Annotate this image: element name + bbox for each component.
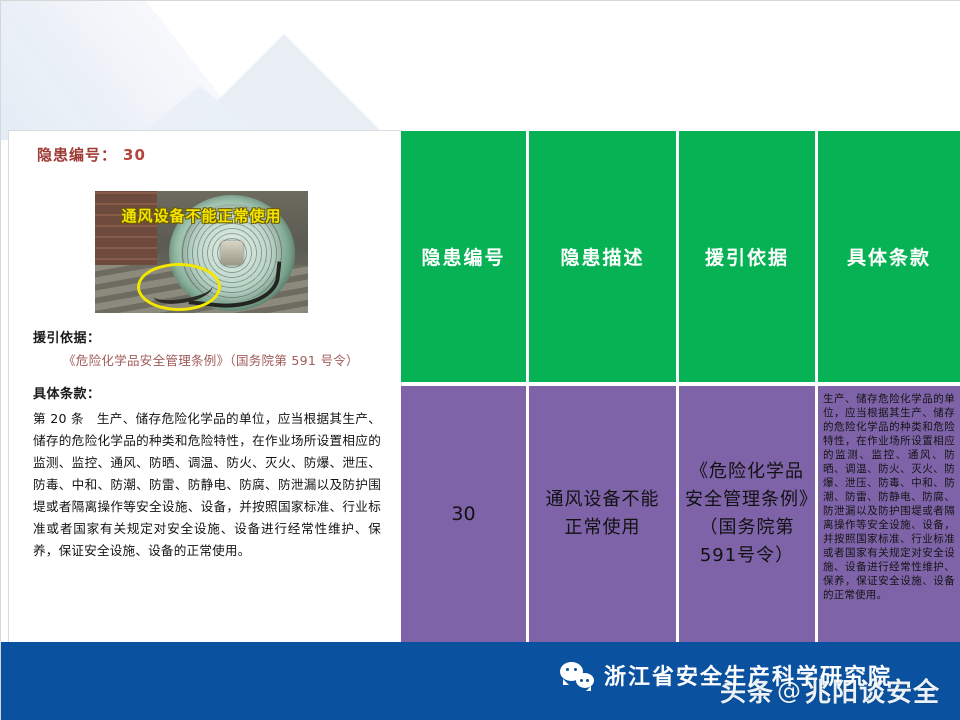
source-document-panel: 隐患编号：30 通风设备不能正常使用 援引依据： 《危险化学品安全管理条例》（国… <box>9 131 401 642</box>
basis-label: 援引依据： <box>33 327 381 346</box>
photo-highlight-circle <box>137 263 221 311</box>
clause-text: 第 20 条 生产、储存危险化学品的单位，应当根据其生产、储存的危险化学品的种类… <box>33 408 381 562</box>
cell-hazard-number-text: 30 <box>451 503 475 525</box>
page-title-number: 30 <box>123 146 146 164</box>
basis-section: 援引依据： 《危险化学品安全管理条例》（国务院第 591 号令） <box>33 327 381 369</box>
cell-hazard-description-text: 通风设备不能正常使用 <box>529 486 676 542</box>
basis-text: 《危险化学品安全管理条例》（国务院第 591 号令） <box>63 350 381 369</box>
table-header-hazard-description: 隐患描述 <box>529 131 679 382</box>
toutiao-watermark-at: @ <box>777 677 802 705</box>
clause-section: 具体条款： 第 20 条 生产、储存危险化学品的单位，应当根据其生产、储存的危险… <box>33 383 381 562</box>
slide-canvas: 隐患编号：30 通风设备不能正常使用 援引依据： 《危险化学品安全管理条例》（国… <box>0 0 960 720</box>
toutiao-watermark-prefix: 头条 <box>720 672 774 709</box>
table-row: 30 通风设备不能正常使用 《危险化学品安全管理条例》（国务院第591号令） 生… <box>401 386 960 642</box>
cell-specific-clause-text: 生产、储存危险化学品的单位，应当根据其生产、储存的危险化学品的种类和危险特性，在… <box>818 386 960 608</box>
page-title: 隐患编号：30 <box>37 144 146 165</box>
clause-label: 具体条款： <box>33 383 381 402</box>
page-title-label: 隐患编号： <box>37 146 117 164</box>
table-header-cited-basis: 援引依据 <box>679 131 818 382</box>
cell-specific-clause: 生产、储存危险化学品的单位，应当根据其生产、储存的危险化学品的种类和危险特性，在… <box>818 386 960 642</box>
photo-caption: 通风设备不能正常使用 <box>95 205 308 226</box>
table-header-specific-clause: 具体条款 <box>818 131 960 382</box>
wechat-icon <box>560 662 594 688</box>
cell-hazard-description: 通风设备不能正常使用 <box>529 386 679 642</box>
cell-hazard-number: 30 <box>401 386 529 642</box>
toutiao-watermark: 头条 @ 兆阳谈安全 <box>720 672 940 709</box>
ventilation-fan-photo: 通风设备不能正常使用 <box>95 191 308 313</box>
hazard-table: 隐患编号 隐患描述 援引依据 具体条款 30 通风设备不能正常使用 《危险化学品… <box>401 131 960 642</box>
cell-cited-basis: 《危险化学品安全管理条例》（国务院第591号令） <box>679 386 818 642</box>
cell-cited-basis-text: 《危险化学品安全管理条例》（国务院第591号令） <box>679 458 815 570</box>
decorative-background-shapes <box>0 0 420 140</box>
toutiao-watermark-name: 兆阳谈安全 <box>805 672 940 709</box>
table-header-row: 隐患编号 隐患描述 援引依据 具体条款 <box>401 131 960 382</box>
table-header-hazard-number: 隐患编号 <box>401 131 529 382</box>
